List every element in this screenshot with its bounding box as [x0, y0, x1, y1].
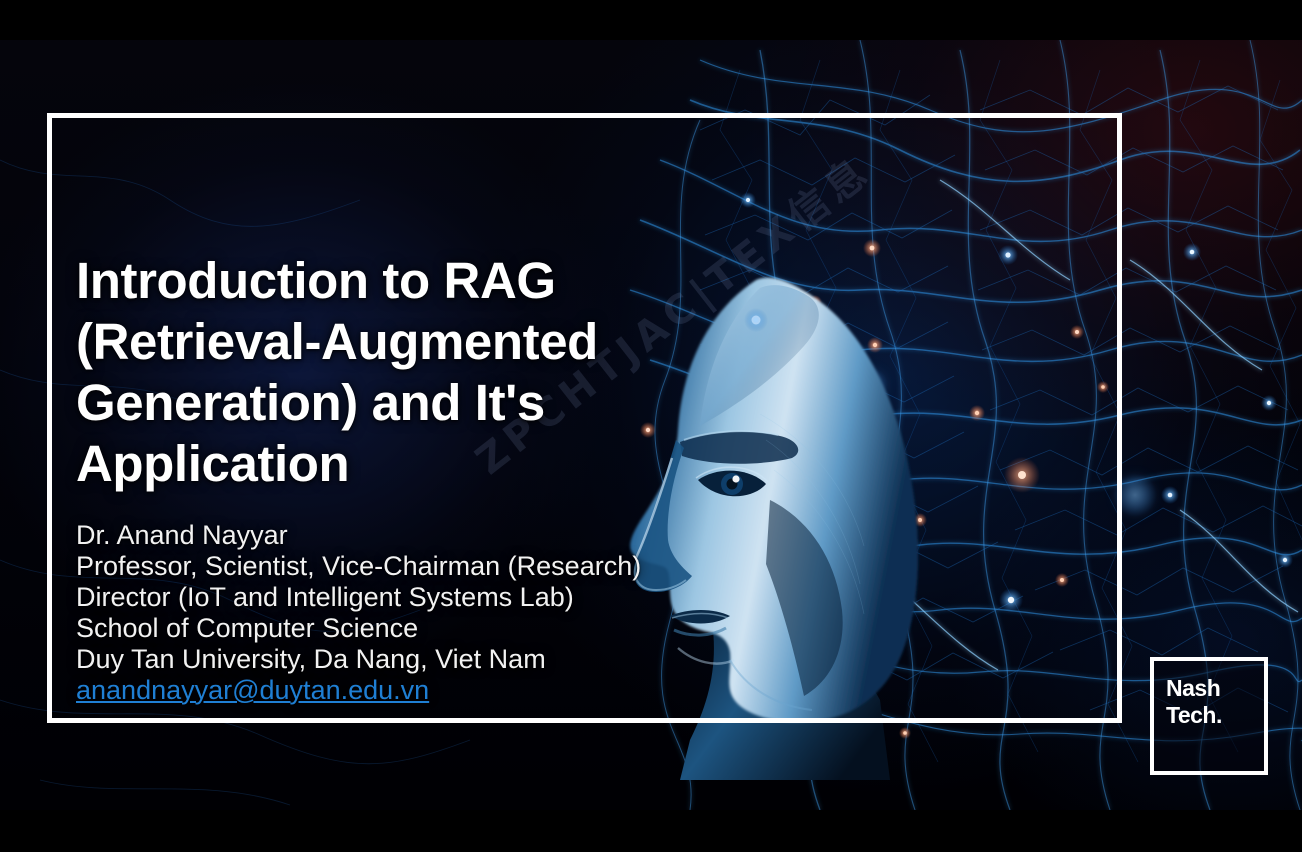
title-line-3: Generation) and It's: [76, 372, 716, 433]
author-block: Dr. Anand Nayyar Professor, Scientist, V…: [76, 520, 716, 706]
slide-stage: ZPCHTJAC|TEX信息 Introduction to RAG (Retr…: [0, 0, 1302, 852]
letterbox-top-bar: [0, 0, 1302, 40]
author-name: Dr. Anand Nayyar: [76, 520, 716, 551]
author-university: Duy Tan University, Da Nang, Viet Nam: [76, 644, 716, 675]
title-line-2: (Retrieval-Augmented: [76, 311, 716, 372]
title-line-1: Introduction to RAG: [76, 250, 716, 311]
nashtech-logo-text: Nash Tech.: [1166, 675, 1222, 729]
author-role: Professor, Scientist, Vice-Chairman (Res…: [76, 551, 716, 582]
nashtech-logo-line-2: Tech.: [1166, 702, 1222, 729]
page-title: Introduction to RAG (Retrieval-Augmented…: [76, 250, 716, 494]
author-email-link[interactable]: anandnayyar@duytan.edu.vn: [76, 675, 429, 706]
nashtech-logo: Nash Tech.: [1150, 657, 1268, 775]
author-school: School of Computer Science: [76, 613, 716, 644]
nashtech-logo-line-1: Nash: [1166, 675, 1222, 702]
letterbox-bottom-bar: [0, 810, 1302, 852]
title-line-4: Application: [76, 433, 716, 494]
slide-canvas: ZPCHTJAC|TEX信息 Introduction to RAG (Retr…: [0, 40, 1302, 810]
title-text-block: Introduction to RAG (Retrieval-Augmented…: [76, 250, 716, 706]
author-director-role: Director (IoT and Intelligent Systems La…: [76, 582, 716, 613]
